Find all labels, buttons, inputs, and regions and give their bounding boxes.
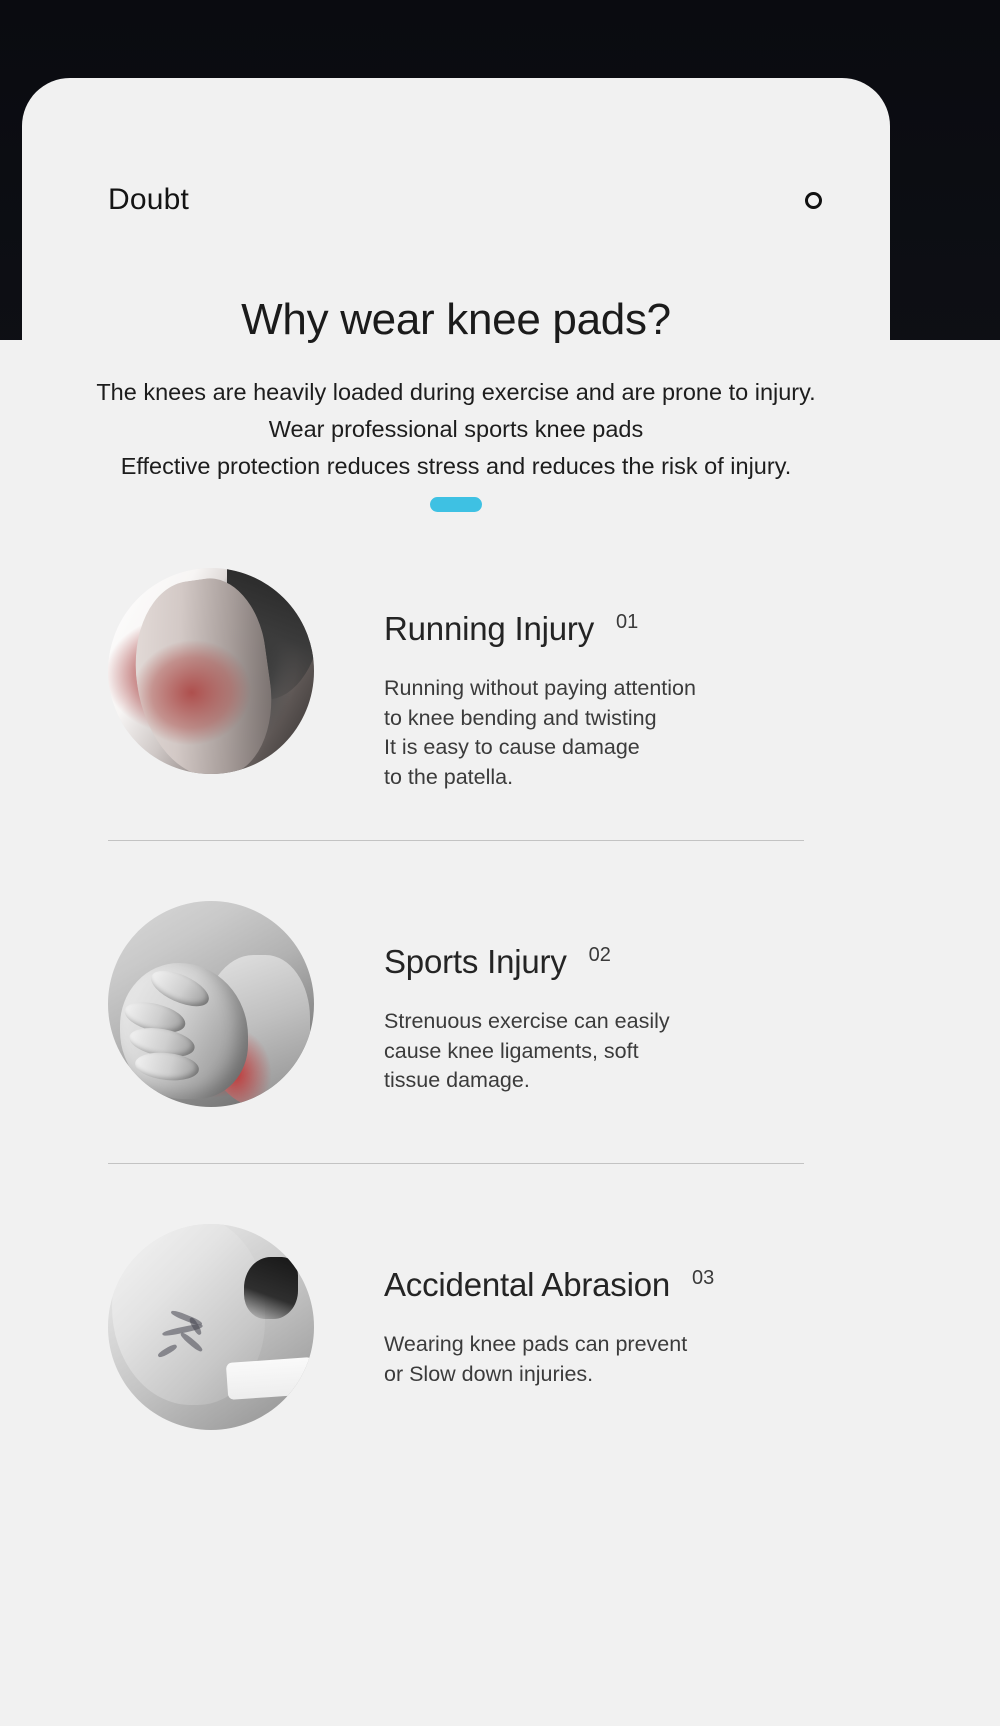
feature-row-1[interactable]: Running Injury 01 Running without paying… <box>22 568 890 792</box>
feature-title-1: Running Injury <box>384 610 594 648</box>
page-card: Doubt Why wear knee pads? The knees are … <box>22 78 890 1530</box>
feature-desc-3: Wearing knee pads can prevent or Slow do… <box>384 1330 830 1389</box>
feature-image-2 <box>108 901 314 1107</box>
feature-desc-2-line-1: Strenuous exercise can easily <box>384 1007 830 1037</box>
page-title: Doubt <box>108 183 189 217</box>
hero-subtitle-line-1: The knees are heavily loaded during exer… <box>22 374 890 411</box>
feature-desc-1-line-3: It is easy to cause damage <box>384 733 830 763</box>
feature-desc-1-line-4: to the patella. <box>384 763 830 793</box>
feature-desc-1-line-2: to knee bending and twisting <box>384 704 830 734</box>
hero-subtitle-line-3: Effective protection reduces stress and … <box>22 448 890 485</box>
feature-desc-2-line-3: tissue damage. <box>384 1066 830 1096</box>
spacer-4 <box>22 1164 890 1224</box>
feature-row-3[interactable]: Accidental Abrasion 03 Wearing knee pads… <box>22 1224 890 1430</box>
feature-desc-1: Running without paying attention to knee… <box>384 674 830 792</box>
ring-icon[interactable] <box>805 192 822 209</box>
feature-text-3: Accidental Abrasion 03 Wearing knee pads… <box>314 1224 830 1389</box>
feature-desc-3-line-1: Wearing knee pads can prevent <box>384 1330 830 1360</box>
feature-title-2: Sports Injury <box>384 943 567 981</box>
feature-row-2[interactable]: Sports Injury 02 Strenuous exercise can … <box>22 901 890 1107</box>
feature-desc-3-line-2: or Slow down injuries. <box>384 1360 830 1390</box>
feature-number-3: 03 <box>692 1267 714 1290</box>
feature-list: Running Injury 01 Running without paying… <box>22 568 890 1430</box>
feature-desc-1-line-1: Running without paying attention <box>384 674 830 704</box>
feature-head-3: Accidental Abrasion 03 <box>384 1266 830 1304</box>
feature-title-3: Accidental Abrasion <box>384 1266 670 1304</box>
feature-image-3 <box>108 1224 314 1430</box>
top-bar: Doubt <box>22 173 890 227</box>
hero-section: Why wear knee pads? The knees are heavil… <box>22 296 890 512</box>
feature-image-3-inner <box>108 1224 314 1430</box>
feature-image-1-inner <box>108 568 314 774</box>
feature-number-1: 01 <box>616 611 638 634</box>
spacer-2 <box>22 841 890 901</box>
feature-image-2-inner <box>108 901 314 1107</box>
feature-image-1 <box>108 568 314 774</box>
feature-head-2: Sports Injury 02 <box>384 943 830 981</box>
feature-head-1: Running Injury 01 <box>384 610 830 648</box>
hero-heading: Why wear knee pads? <box>22 296 890 344</box>
photo-white-strip <box>226 1357 314 1400</box>
feature-text-1: Running Injury 01 Running without paying… <box>314 568 830 792</box>
accent-pill <box>430 497 482 512</box>
feature-desc-2-line-2: cause knee ligaments, soft <box>384 1037 830 1067</box>
photo-dark-spot <box>244 1257 298 1319</box>
hero-subtitle-line-2: Wear professional sports knee pads <box>22 411 890 448</box>
spacer-1 <box>22 792 890 840</box>
feature-desc-2: Strenuous exercise can easily cause knee… <box>384 1007 830 1096</box>
spacer-3 <box>22 1107 890 1163</box>
hero-subtitle: The knees are heavily loaded during exer… <box>22 374 890 485</box>
feature-number-2: 02 <box>589 944 611 967</box>
feature-text-2: Sports Injury 02 Strenuous exercise can … <box>314 901 830 1096</box>
